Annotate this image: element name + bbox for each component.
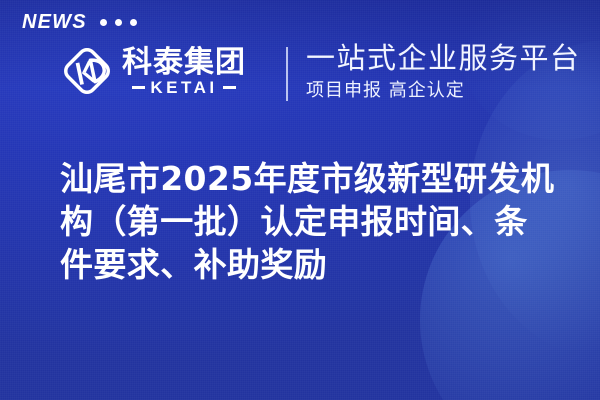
dot-icon: [130, 19, 137, 26]
dot-icon: [100, 19, 107, 26]
brand-name-cn: 科泰集团: [122, 48, 246, 79]
header-divider: [286, 47, 288, 101]
tagline-sub: 项目申报 高企认定: [306, 80, 581, 102]
brand-name-en-row: KETAI: [122, 79, 246, 96]
tagline-block: 一站式企业服务平台 项目申报 高企认定: [306, 42, 581, 102]
brand-name-en: KETAI: [150, 79, 217, 96]
tagline-main: 一站式企业服务平台: [306, 42, 581, 74]
brand-rule-left-icon: [132, 86, 145, 89]
news-banner: NEWS: [0, 0, 600, 400]
brand-wordmark: 科泰集团 KETAI: [122, 46, 246, 97]
news-eyebrow: NEWS: [22, 12, 137, 32]
dot-icon: [115, 19, 122, 26]
headline-title: 汕尾市2025年度市级新型研发机构（第一批）认定申报时间、条件要求、补助奖励: [60, 158, 560, 287]
news-label: NEWS: [22, 12, 87, 32]
ketai-diamond-monogram-icon: [58, 42, 116, 100]
news-dots-icon: [100, 19, 137, 26]
brand-logo-lockup: 科泰集团 KETAI: [58, 42, 246, 100]
brand-rule-right-icon: [223, 86, 236, 89]
